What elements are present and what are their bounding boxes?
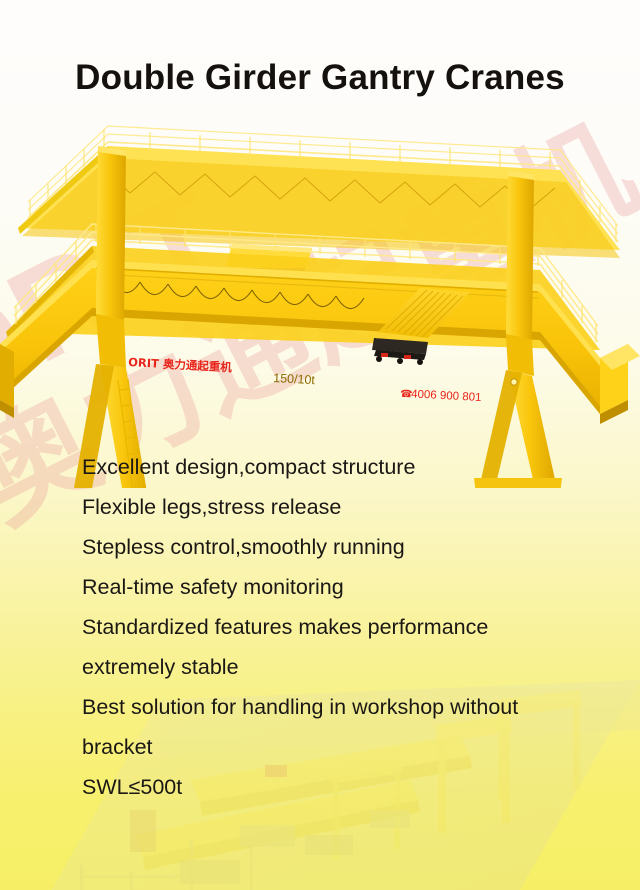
feature-item: bracket <box>82 727 612 767</box>
feature-item: Excellent design,compact structure <box>82 447 612 487</box>
feature-list: Excellent design,compact structure Flexi… <box>82 447 612 807</box>
crane-capacity-label: 150/10t <box>273 371 316 387</box>
gantry-crane-illustration: ORIT 奥力通起重机 150/10t ☎ 4006 900 801 <box>0 118 640 488</box>
feature-item: SWL≤500t <box>82 767 612 807</box>
feature-item: Best solution for handling in workshop w… <box>82 687 612 727</box>
page-title: Double Girder Gantry Cranes <box>0 58 640 98</box>
crane-phone-label: 4006 900 801 <box>411 388 482 404</box>
feature-item: extremely stable <box>82 647 612 687</box>
feature-item: Real-time safety monitoring <box>82 567 612 607</box>
feature-item: Standardized features makes performance <box>82 607 612 647</box>
gantry-crane-product-slide: ORIT 奥力通起重机 Double Girder Gantry Cranes <box>0 0 640 890</box>
feature-item: Flexible legs,stress release <box>82 487 612 527</box>
crane-brand-label: ORIT 奥力通起重机 <box>128 355 233 374</box>
feature-item: Stepless control,smoothly running <box>82 527 612 567</box>
crane-phone-label-group: ☎ 4006 900 801 <box>400 388 482 404</box>
